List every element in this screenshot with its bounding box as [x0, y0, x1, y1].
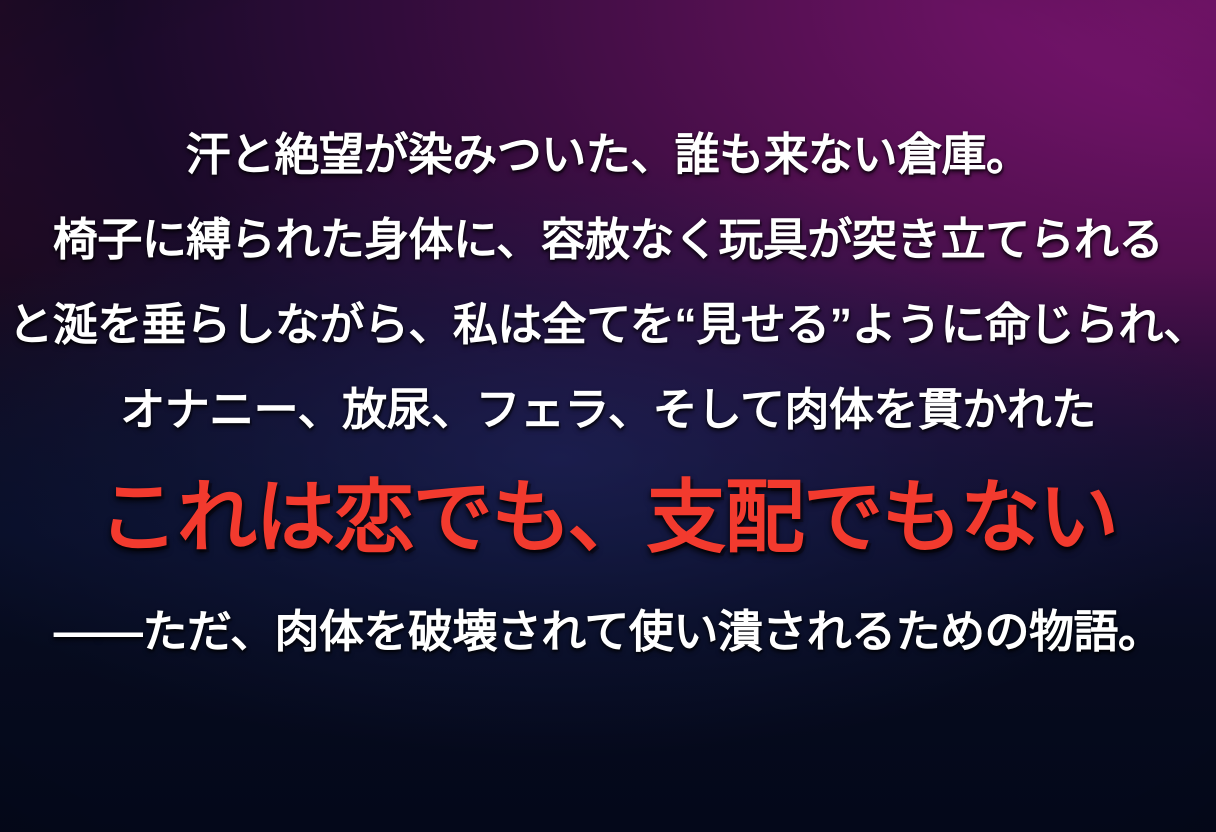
banner-headline: これは恋でも、支配でもない [0, 466, 1216, 570]
banner-text-stack: 汗と絶望が染みついた、誰も来ない倉庫。 椅子に縛られた身体に、容赦なく玩具が突き… [0, 0, 1216, 832]
banner-line-sub-3: と涎を垂らしながら、私は全てを“見せる”ように命じられ、 [0, 282, 1216, 367]
banner-line-lede: 汗と絶望が染みついた、誰も来ない倉庫。 [0, 112, 1216, 197]
banner-line-sub-2: 椅子に縛られた身体に、容赦なく玩具が突き立てられる [0, 197, 1216, 282]
banner-line-sub-4: オナニー、放尿、フェラ、そして肉体を貫かれた [0, 367, 1216, 452]
promo-banner: 汗と絶望が染みついた、誰も来ない倉庫。 椅子に縛られた身体に、容赦なく玩具が突き… [0, 0, 1216, 832]
banner-line-tagline: ——ただ、肉体を破壊されて使い潰されるための物語。 [0, 592, 1216, 672]
